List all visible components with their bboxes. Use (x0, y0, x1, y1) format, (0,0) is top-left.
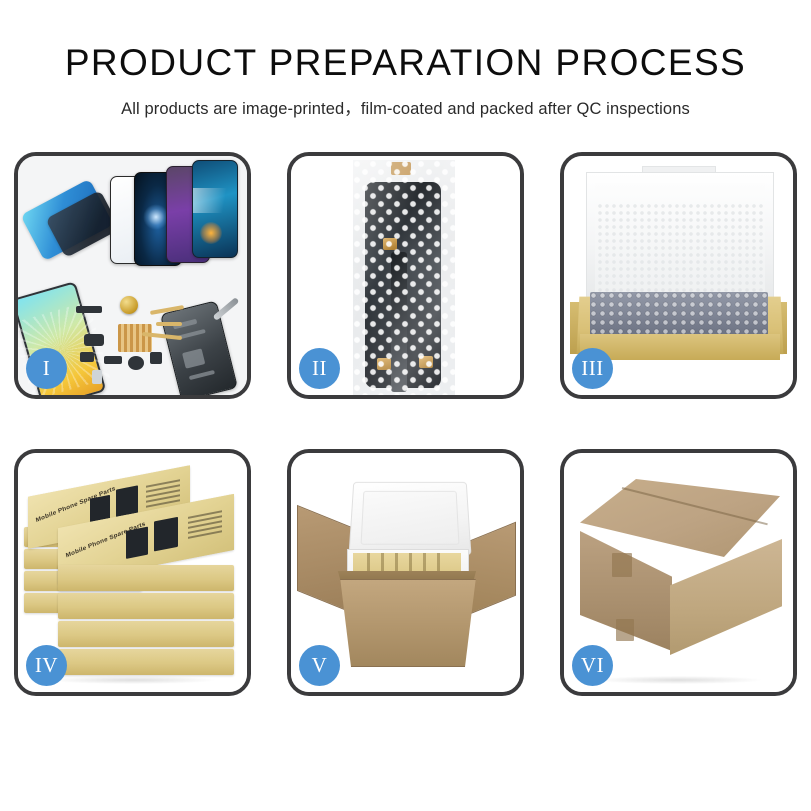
bubble-wrap-package (353, 160, 455, 395)
retail-box-screen-image-2b (154, 517, 178, 552)
carton-tape-upper (612, 553, 632, 577)
small-part-g (92, 370, 102, 384)
small-part-b (84, 334, 104, 346)
panel-2-image: II (291, 156, 520, 395)
carton-shadow (596, 676, 761, 684)
small-part-d (104, 356, 122, 364)
stack-shadow (50, 676, 215, 684)
lid-foam-texture (597, 203, 763, 299)
small-part-a (76, 306, 102, 313)
page-title: PRODUCT PREPARATION PROCESS (0, 44, 811, 83)
panel-5-badge: V (299, 645, 340, 686)
page-header: PRODUCT PREPARATION PROCESS All products… (0, 0, 811, 119)
process-panel-4: Mobile Phone Spare Parts Mobile Phone Sp… (14, 449, 251, 696)
panel-6-badge: VI (572, 645, 613, 686)
process-panel-2: II (287, 152, 524, 399)
panel-1-badge: I (26, 348, 67, 389)
gold-box-front-face (580, 334, 780, 360)
bubble-wrapped-contents (590, 292, 768, 336)
panel-4-image: Mobile Phone Spare Parts Mobile Phone Sp… (18, 453, 247, 692)
phone-display-teal (192, 160, 238, 258)
panel-5-image: V (291, 453, 520, 692)
retail-box-front-1 (58, 565, 234, 591)
process-panel-1: I (14, 152, 251, 399)
carton-tape-lower (616, 619, 634, 641)
plastic-sheen (353, 160, 455, 395)
page-subtitle: All products are image-printed，film-coat… (0, 95, 811, 119)
process-panel-6: VI (560, 449, 797, 696)
panel-1-image: I (18, 156, 247, 395)
panel-2-badge: II (299, 348, 340, 389)
display-glow-highlight (200, 222, 222, 244)
process-panel-5: V (287, 449, 524, 696)
foam-lid-inner (361, 491, 460, 545)
retail-box-front-2 (58, 593, 234, 619)
retail-box-front-3 (58, 621, 234, 647)
small-part-c (80, 352, 94, 362)
carton-body (331, 579, 485, 667)
retail-box-screen-image-2a (126, 527, 148, 559)
process-panel-3: III (560, 152, 797, 399)
panel-3-image: III (564, 156, 793, 395)
small-part-f (150, 352, 162, 364)
connector-array (118, 324, 152, 352)
retail-box-front-4 (58, 649, 234, 675)
speaker-module (120, 296, 138, 314)
panel-4-badge: IV (26, 645, 67, 686)
flex-cable-c (156, 322, 182, 326)
panel-6-image: VI (564, 453, 793, 692)
panel-3-badge: III (572, 348, 613, 389)
foam-box-lid (349, 482, 472, 555)
small-part-e (128, 356, 144, 370)
white-box-lid (586, 172, 774, 302)
process-panel-grid: I II (14, 152, 797, 696)
